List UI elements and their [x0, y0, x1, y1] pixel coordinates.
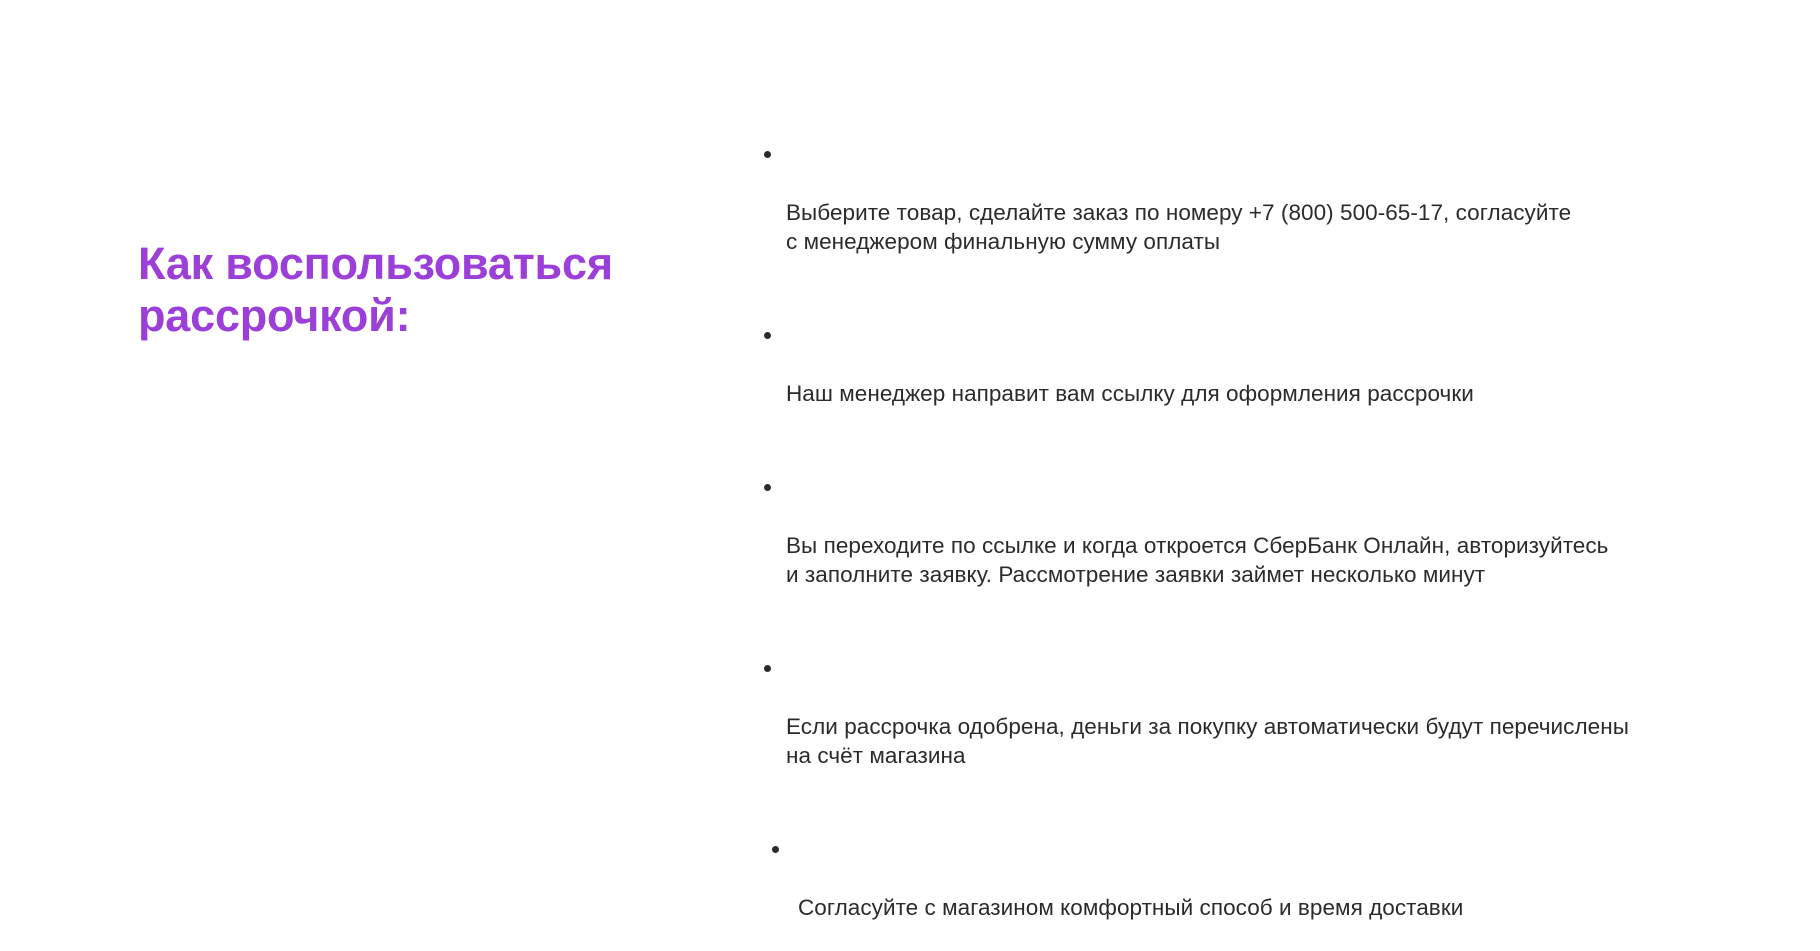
promo-slide: Как воспользоваться рассрочкой: Выберите…	[0, 0, 1820, 601]
bullet-dot-icon	[764, 332, 771, 339]
list-item: Если рассрочка одобрена, деньги за покуп…	[758, 654, 1788, 799]
steps-column: Выберите товар, сделайте заказ по номеру…	[758, 140, 1788, 951]
page-title: Как воспользоваться рассрочкой:	[138, 238, 698, 342]
bullet-dot-icon	[772, 846, 779, 853]
list-item: Наш менеджер направит вам ссылку для офо…	[758, 321, 1788, 437]
bullet-dot-icon	[764, 665, 771, 672]
list-item-text: Вы переходите по ссылке и когда откроетс…	[786, 531, 1788, 589]
list-item: Вы переходите по ссылке и когда откроетс…	[758, 473, 1788, 618]
heading-column: Как воспользоваться рассрочкой:	[138, 238, 698, 342]
list-item: Выберите товар, сделайте заказ по номеру…	[758, 140, 1788, 285]
steps-list: Выберите товар, сделайте заказ по номеру…	[758, 140, 1788, 951]
bullet-dot-icon	[764, 484, 771, 491]
list-item: Согласуйте с магазином комфортный способ…	[758, 835, 1788, 951]
list-item-text: Наш менеджер направит вам ссылку для офо…	[786, 379, 1788, 408]
list-item-text: Выберите товар, сделайте заказ по номеру…	[786, 198, 1788, 256]
bullet-dot-icon	[764, 151, 771, 158]
list-item-text: Согласуйте с магазином комфортный способ…	[798, 893, 1788, 922]
list-item-text: Если рассрочка одобрена, деньги за покуп…	[786, 712, 1788, 770]
